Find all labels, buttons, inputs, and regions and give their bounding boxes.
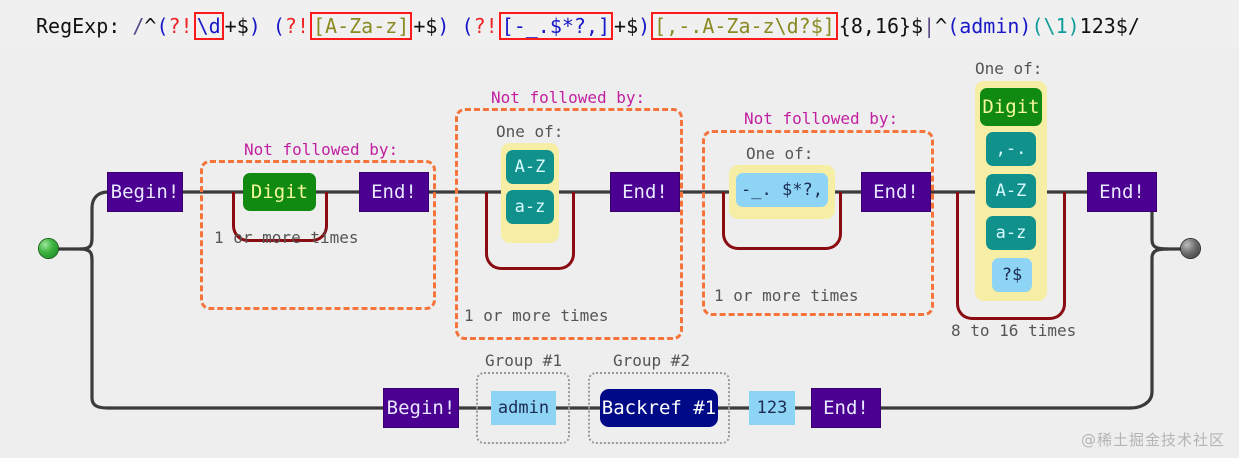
end-terminal-node (1181, 239, 1200, 258)
charclass-oneof-caption: One of: (975, 59, 1042, 78)
regexp-token: $ (1116, 14, 1128, 38)
lookahead-2-quantifier: 1 or more times (464, 306, 609, 325)
lookahead-1-quantifier: 1 or more times (214, 228, 359, 247)
node-charclass-upper[interactable]: A-Z (986, 174, 1036, 208)
regexp-token: RegExp: (36, 14, 120, 38)
regexp-token: (admin) (947, 14, 1031, 38)
lookahead-3-quantifier: 1 or more times (714, 286, 859, 305)
regexp-token: + (614, 14, 626, 38)
regexp-token: + (413, 14, 425, 38)
node-backref-1[interactable]: Backref #1 (600, 389, 718, 427)
group-2-caption: Group #2 (613, 351, 690, 370)
anchor-begin-top[interactable]: Begin! (108, 173, 182, 211)
anchor-end-lookahead-3[interactable]: End! (862, 173, 930, 211)
regexp-token: ?! (168, 14, 192, 38)
lookahead-3-oneof-caption: One of: (746, 144, 813, 163)
regexp-token: $ (911, 14, 923, 38)
lookahead-3-caption: Not followed by: (744, 109, 898, 128)
node-charclass-upper-lookahead-2[interactable]: A-Z (506, 150, 554, 184)
node-charclass-lower[interactable]: a-z (986, 216, 1036, 250)
regexp-token: ?! (474, 14, 498, 38)
regexp-token: 123 (1080, 14, 1116, 38)
node-digit-lookahead-1[interactable]: Digit (243, 173, 316, 211)
node-charclass-question-dollar[interactable]: ?$ (992, 258, 1032, 292)
regexp-token: + (225, 14, 237, 38)
anchor-begin-bottom[interactable]: Begin! (384, 389, 458, 427)
regexp-token: {8,16} (839, 14, 911, 38)
anchor-end-bottom[interactable]: End! (812, 389, 880, 427)
regexp-token-highlighted: \d (194, 12, 224, 40)
anchor-end-lookahead-1[interactable]: End! (360, 173, 428, 211)
regexp-token: $ (626, 14, 638, 38)
regexp-token: ?! (285, 14, 309, 38)
regexp-token (120, 14, 132, 38)
regexp-token: / (1128, 14, 1140, 38)
regexp-token: ) (437, 14, 449, 38)
regexp-token (261, 14, 273, 38)
node-charclass-lower-lookahead-2[interactable]: a-z (506, 190, 554, 224)
start-terminal-node (39, 239, 58, 258)
regexp-source-line: RegExp: /^(?!\d+$) (?![A-Za-z]+$) (?![-_… (36, 14, 1140, 38)
node-charclass-digit[interactable]: Digit (980, 88, 1042, 126)
regexp-token-highlighted: [A-Za-z] (310, 12, 412, 40)
regexp-token: $ (425, 14, 437, 38)
node-literal-123[interactable]: 123 (749, 391, 795, 425)
anchor-end-lookahead-2[interactable]: End! (611, 173, 679, 211)
watermark: @稀土掘金技术社区 (1081, 429, 1225, 450)
regexp-token: ^ (935, 14, 947, 38)
lookahead-2-oneof-caption: One of: (496, 122, 563, 141)
lookahead-2-caption: Not followed by: (491, 88, 645, 107)
regexp-token: ) (638, 14, 650, 38)
regexp-token-highlighted: [,-.A-Za-z\d?$] (651, 12, 838, 40)
regexp-token: ( (156, 14, 168, 38)
regexp-token: ) (249, 14, 261, 38)
regexp-header-bar: RegExp: /^(?!\d+$) (?![A-Za-z]+$) (?![-_… (0, 0, 1239, 49)
regexp-token: $ (237, 14, 249, 38)
node-literal-admin[interactable]: admin (491, 391, 556, 425)
node-literal-symbols-lookahead-3[interactable]: -_. $*?, (736, 173, 828, 207)
regexp-token: | (923, 14, 935, 38)
regexp-token: ( (273, 14, 285, 38)
group-1-caption: Group #1 (485, 351, 562, 370)
regexp-token: ( (462, 14, 474, 38)
regexp-token: / (132, 14, 144, 38)
node-charclass-punct[interactable]: ,-. (986, 132, 1036, 166)
anchor-end-top[interactable]: End! (1088, 173, 1156, 211)
regexp-token-highlighted: [-_.$*?,] (499, 12, 613, 40)
regexp-token: (\1) (1031, 14, 1079, 38)
charclass-quantifier: 8 to 16 times (951, 321, 1076, 340)
regexp-token: ^ (144, 14, 156, 38)
railroad-diagram-canvas: Begin! Not followed by: Digit 1 or more … (0, 48, 1239, 458)
regexp-token (449, 14, 461, 38)
lookahead-1-caption: Not followed by: (244, 140, 398, 159)
